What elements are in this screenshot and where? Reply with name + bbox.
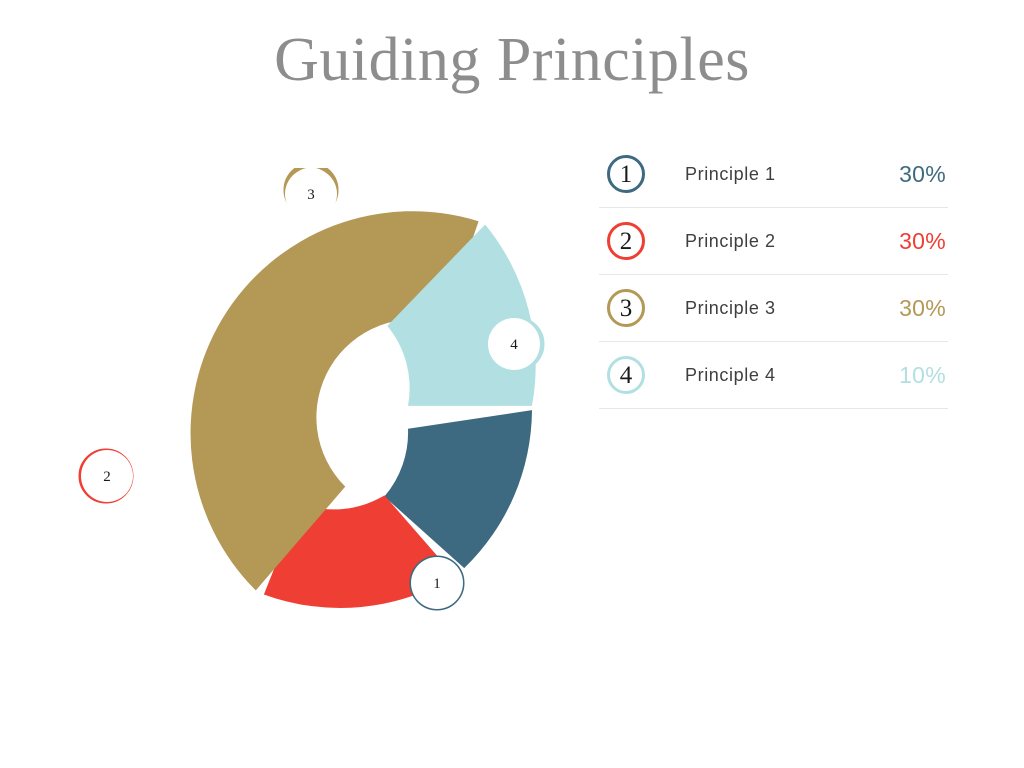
donut-chart-svg: 1 2 3 4 (70, 168, 550, 648)
legend-row-1[interactable]: 1 Principle 1 30% (599, 141, 948, 208)
slide-canvas: Guiding Principles 1 (0, 0, 1024, 768)
legend-value-1: 30% (899, 161, 948, 188)
donut-badge-4[interactable]: 4 (488, 318, 542, 370)
donut-badge-1-number: 1 (433, 576, 441, 592)
page-title: Guiding Principles (0, 26, 1024, 94)
legend-badge-1: 1 (607, 155, 645, 193)
donut-badge-1[interactable]: 1 (411, 557, 463, 609)
donut-badge-3-number: 3 (307, 187, 315, 203)
donut-badge-2[interactable]: 2 (81, 450, 133, 502)
legend-value-4: 10% (899, 362, 948, 389)
legend-value-3: 30% (899, 295, 948, 322)
legend: 1 Principle 1 30% 2 Principle 2 30% 3 Pr… (599, 141, 948, 409)
legend-row-3[interactable]: 3 Principle 3 30% (599, 275, 948, 342)
legend-badge-3: 3 (607, 289, 645, 327)
legend-row-4[interactable]: 4 Principle 4 10% (599, 342, 948, 409)
legend-badge-2: 2 (607, 222, 645, 260)
legend-label-1: Principle 1 (685, 164, 899, 185)
legend-label-2: Principle 2 (685, 231, 899, 252)
legend-value-2: 30% (899, 228, 948, 255)
donut-badge-4-number: 4 (510, 337, 518, 353)
donut-badge-3[interactable]: 3 (285, 168, 337, 220)
legend-label-4: Principle 4 (685, 365, 899, 386)
legend-row-2[interactable]: 2 Principle 2 30% (599, 208, 948, 275)
donut-badge-2-number: 2 (103, 469, 111, 485)
legend-badge-4: 4 (607, 356, 645, 394)
donut-chart: 1 2 3 4 (70, 168, 550, 648)
legend-label-3: Principle 3 (685, 298, 899, 319)
